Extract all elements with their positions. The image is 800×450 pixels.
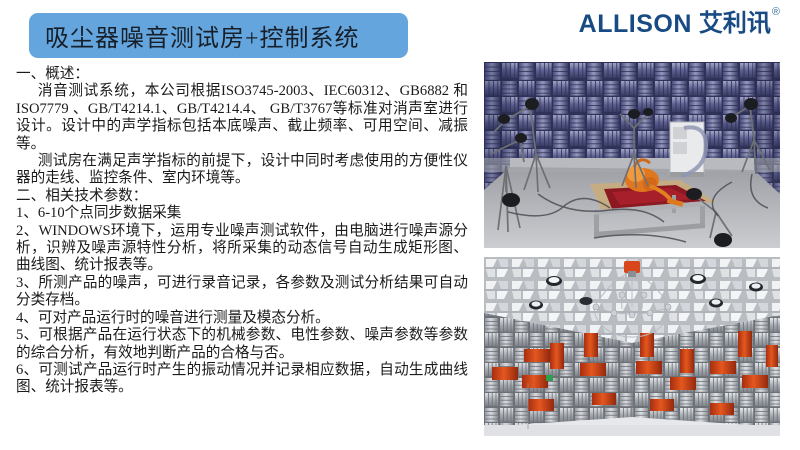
photo-bottom-graphic [484,257,780,436]
description-paragraph: 2、WINDOWS环境下，运用专业噪声测试软件，由电脑进行噪声源分析，识辨及噪声… [16,223,468,275]
photo-anechoic-chamber-vacuum-test [484,62,780,248]
registered-trademark-icon: ® [772,6,780,18]
allison-logo: ALLISON 艾利讯 ® [579,12,780,37]
title-banner: 吸尘器噪音测试房+控制系统 [29,13,408,58]
slide-canvas: 吸尘器噪音测试房+控制系统 ALLISON 艾利讯 ® 一、概述：消音测试系统，… [0,0,800,450]
logo-cjk-text: 艾利讯 [699,12,771,36]
description-paragraph: 1、6-10个点同步数据采集 [16,205,468,222]
description-paragraph: 测试房在满足声学指标的前提下，设计中同时考虑使用的方便性仪器的走线、监控条件、室… [16,153,468,188]
page-title: 吸尘器噪音测试房+控制系统 [29,18,360,53]
photo-anechoic-chamber-interior [484,257,780,436]
description-body: 一、概述：消音测试系统，本公司根据ISO3745-2003、IEC60312、G… [16,66,468,397]
description-paragraph: 5、可根据产品在运行状态下的机械参数、电性参数、噪声参数等参数的综合分析，有效地… [16,327,468,362]
description-paragraph: 消音测试系统，本公司根据ISO3745-2003、IEC60312、GB6882… [16,83,468,153]
description-paragraph: 二、相关技术参数： [16,188,468,205]
exit-indicator-shape [546,375,553,381]
photo-top-graphic [484,62,780,248]
description-paragraph: 6、可测试产品运行时产生的振动情况并记录相应数据，自动生成曲线图、统计报表等。 [16,362,468,397]
logo-latin-text: ALLISON [579,12,692,37]
description-paragraph: 3、所测产品的噪声，可进行录音记录，各参数及测试分析结果可自动分类存档。 [16,275,468,310]
description-paragraph: 4、可对产品运行时的噪音进行测量及模态分析。 [16,310,468,327]
description-paragraph: 一、概述： [16,66,468,83]
